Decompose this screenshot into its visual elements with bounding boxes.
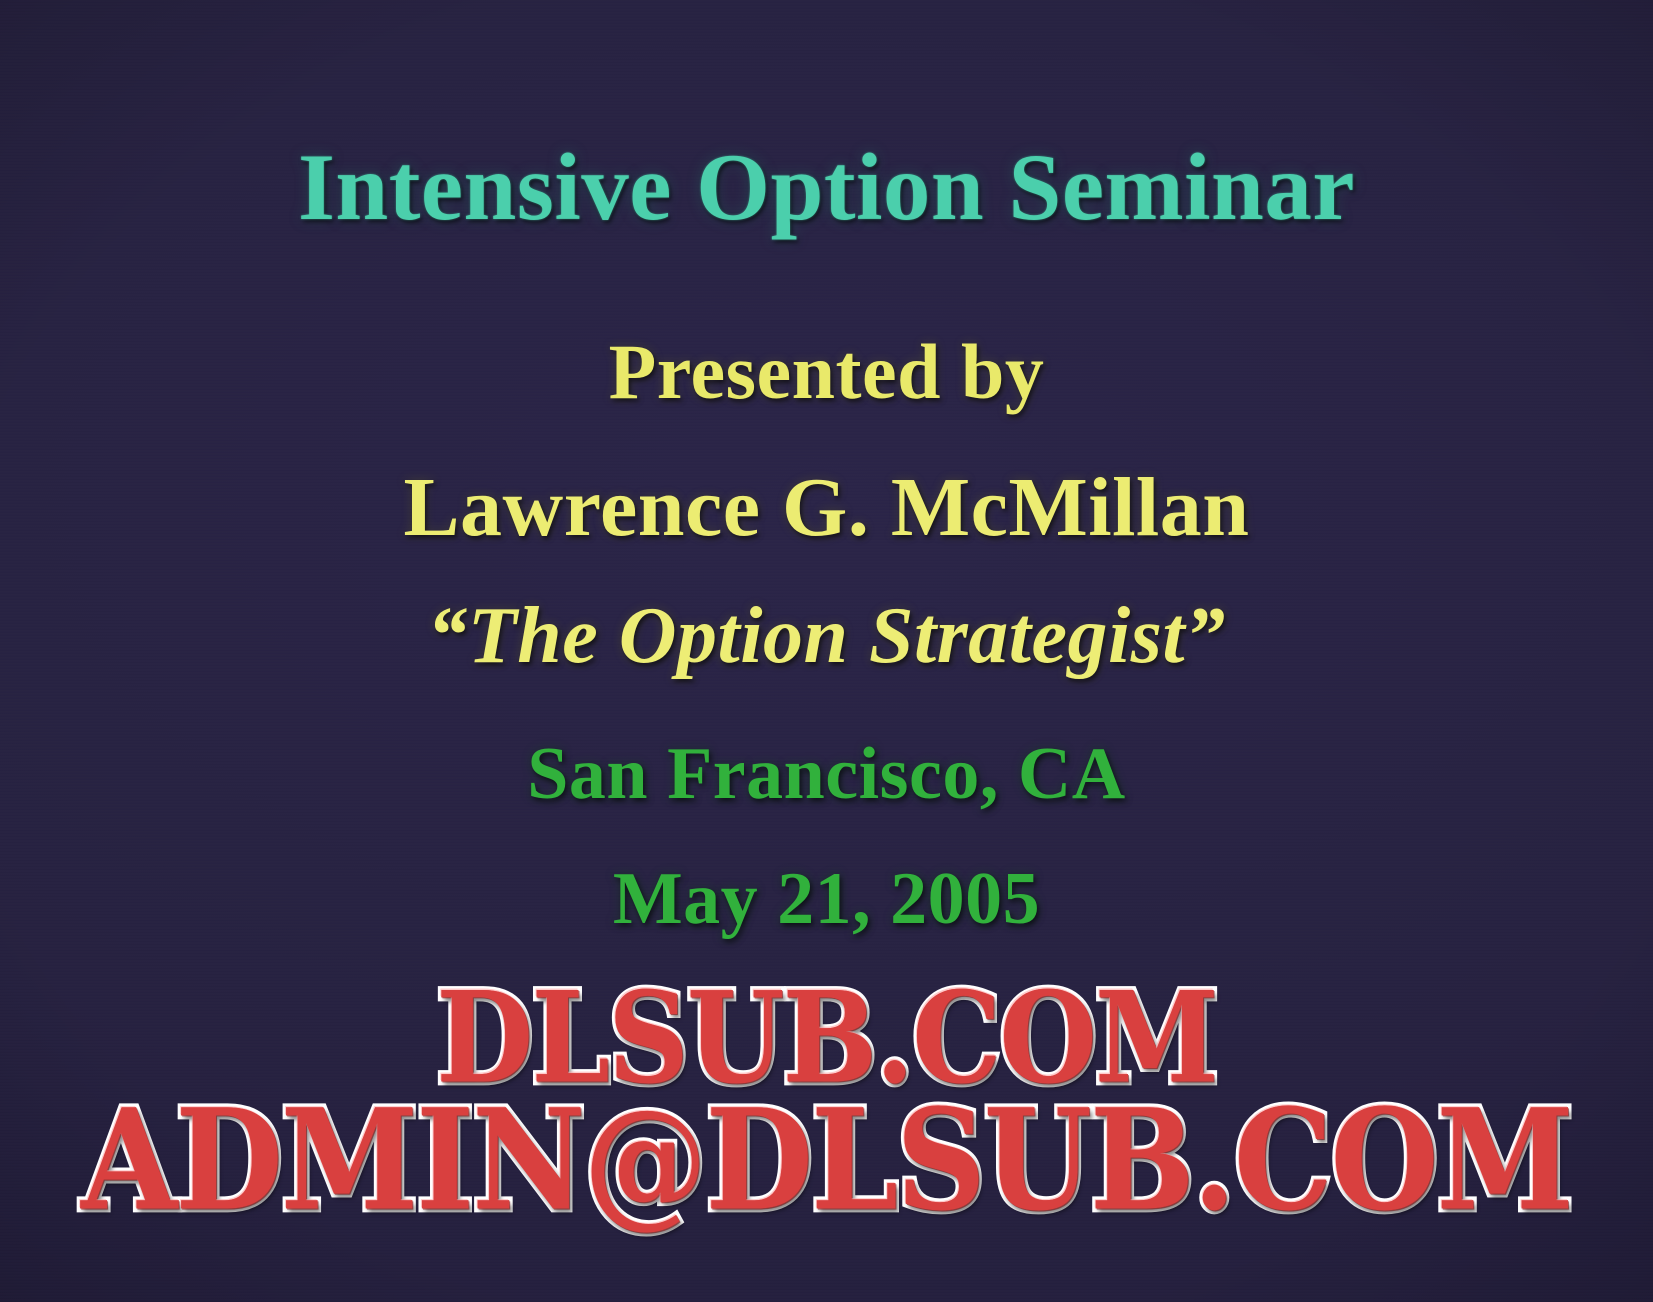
seminar-location: San Francisco, CA — [0, 737, 1653, 811]
speaker-nickname: “The Option Strategist” — [0, 596, 1653, 676]
speaker-name: Lawrence G. McMillan — [0, 466, 1653, 550]
seminar-date: May 21, 2005 — [0, 862, 1653, 936]
slide-content: Intensive Option Seminar Presented by La… — [0, 0, 1653, 1302]
video-slide-frame: Intensive Option Seminar Presented by La… — [0, 0, 1653, 1302]
slide-title: Intensive Option Seminar — [0, 140, 1653, 235]
presented-by-label: Presented by — [0, 333, 1653, 411]
